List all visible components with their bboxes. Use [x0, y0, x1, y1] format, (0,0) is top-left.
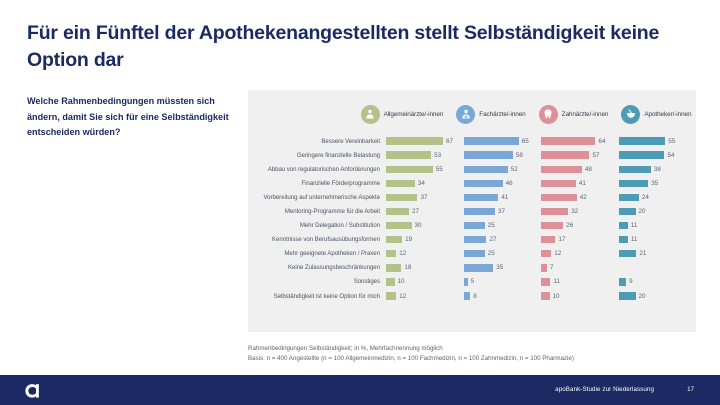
chart-bar-cell: 12	[386, 250, 464, 257]
chart-row: Mehr Delegation / Substitution30252611	[248, 219, 696, 233]
chart-bar-value: 11	[631, 236, 638, 243]
chart-bar	[386, 278, 395, 285]
chart-bar-cell: 11	[619, 222, 697, 229]
footer-bar: apoBank-Studie zur Niederlassung 17	[0, 375, 720, 405]
chart-bar-cell: 10	[386, 278, 464, 285]
chart-bar-cell: 8	[464, 292, 542, 299]
chart-bar-cell: 12	[541, 250, 619, 257]
chart-row-label: Bessere Vereinbarkeit	[248, 138, 386, 145]
legend-item-4[interactable]: Apotheker/-innen	[621, 105, 691, 124]
chart-bar-value: 48	[585, 166, 592, 173]
chart-bar-value: 64	[598, 138, 605, 145]
chart-bar-cell: 35	[619, 180, 697, 187]
chart-bar	[541, 264, 547, 271]
chart-bar-cell: 17	[541, 236, 619, 243]
chart-bar	[464, 278, 468, 285]
chart-bar-value: 55	[668, 138, 675, 145]
chart-legend: Allgemeinärzte/-innenFachärzte/-innenZah…	[248, 100, 696, 128]
chart-bar	[464, 137, 519, 144]
chart-bar-cell: 38	[619, 166, 697, 173]
chart-row: Abbau von regulatorischen Anforderungen5…	[248, 162, 696, 176]
slide: Für ein Fünftel der Apothekenangestellte…	[0, 0, 720, 405]
chart-row: Mentoring-Programme für die Arbeit273732…	[248, 204, 696, 218]
chart-bar-value: 17	[558, 236, 565, 243]
chart-row-cells: 19271711	[386, 236, 696, 243]
chart-bar-cell	[619, 264, 697, 271]
chart-bar-value: 21	[639, 250, 646, 257]
chart-bar-value: 41	[579, 180, 586, 187]
chart-bar-value: 53	[434, 152, 441, 159]
chart-bar-value: 7	[550, 264, 554, 271]
chart-bar-value: 34	[418, 180, 425, 187]
chart-row-cells: 12251221	[386, 250, 696, 257]
chart-bar-cell: 58	[464, 151, 542, 158]
chart-bar-value: 58	[516, 152, 523, 159]
apobank-a-logo	[23, 381, 42, 400]
chart-row: Keine Zulassungsbeschränkungen18357	[248, 261, 696, 275]
chart-bar	[386, 151, 431, 158]
chart-bar-cell: 10	[541, 292, 619, 299]
chart-row-cells: 67656455	[386, 137, 696, 144]
chart-bar-value: 18	[404, 264, 411, 271]
chart-row: Finanzielle Förderprogramme34464135	[248, 176, 696, 190]
chart-bar	[464, 292, 471, 299]
chart-bar	[541, 250, 551, 257]
chart-bar	[541, 180, 576, 187]
chart-bar-value: 65	[522, 138, 529, 145]
chart-bar	[619, 278, 627, 285]
chart-bar-value: 38	[654, 166, 661, 173]
chart-bar	[541, 278, 550, 285]
doctor-general-icon	[361, 105, 380, 124]
chart-row-cells: 37414224	[386, 194, 696, 201]
chart-bar	[464, 250, 485, 257]
chart-bar	[619, 137, 666, 144]
chart-bar-value: 12	[399, 250, 406, 257]
chart-bar-value: 12	[399, 293, 406, 300]
chart-bar-cell: 41	[541, 180, 619, 187]
chart-row-cells: 30252611	[386, 222, 696, 229]
chart-bar	[541, 222, 563, 229]
chart-bar	[464, 222, 485, 229]
chart-bar-value: 10	[398, 278, 405, 285]
chart-row: Selbständigkeit ist keine Option für mic…	[248, 289, 696, 303]
chart-bar-value: 57	[592, 152, 599, 159]
chart-bar-value: 35	[651, 180, 658, 187]
chart-bar-cell: 48	[541, 166, 619, 173]
chart-panel: Allgemeinärzte/-innenFachärzte/-innenZah…	[248, 90, 696, 332]
footer-study-label: apoBank-Studie zur Niederlassung	[555, 386, 654, 393]
chart-bar	[386, 264, 401, 271]
doctor-specialist-icon	[456, 105, 475, 124]
chart-bar	[619, 151, 665, 158]
chart-bar	[541, 208, 568, 215]
chart-bar-cell: 46	[464, 180, 542, 187]
chart-bar-cell: 5	[464, 278, 542, 285]
chart-bar-value: 12	[554, 250, 561, 257]
page-title: Für ein Fünftel der Apothekenangestellte…	[27, 20, 687, 74]
source-line-2: Basis: n = 400 Angestellte (n = 100 Allg…	[248, 354, 696, 364]
chart-bar	[464, 151, 513, 158]
chart-row-label: Mentoring-Programme für die Arbeit	[248, 208, 386, 215]
chart-bar-value: 19	[405, 236, 412, 243]
legend-item-label: Fachärzte/-innen	[479, 111, 525, 118]
chart-bar	[619, 180, 649, 187]
chart-bar-cell: 67	[386, 137, 464, 144]
chart-bar-cell: 37	[386, 194, 464, 201]
chart-bar	[386, 166, 433, 173]
chart-bar-cell: 35	[464, 264, 542, 271]
chart-bar	[386, 222, 412, 229]
chart-bar	[541, 166, 582, 173]
chart-bar-cell: 19	[386, 236, 464, 243]
chart-row-label: Mehr geeignete Apotheken / Praxen	[248, 250, 386, 257]
chart-bar	[386, 137, 443, 144]
chart-bar-value: 5	[471, 278, 475, 285]
chart-bar-value: 26	[566, 222, 573, 229]
chart-bar-value: 24	[642, 194, 649, 201]
chart-bar-value: 67	[446, 138, 453, 145]
chart-bar-cell: 25	[464, 250, 542, 257]
chart-bar	[619, 236, 628, 243]
chart-bar-value: 27	[412, 208, 419, 215]
chart-row-cells: 34464135	[386, 180, 696, 187]
chart-bar-value: 25	[488, 222, 495, 229]
chart-bar-cell: 9	[619, 278, 697, 285]
chart-bar-cell: 34	[386, 180, 464, 187]
legend-item-label: Apotheker/-innen	[644, 111, 691, 118]
chart-row-label: Sonstiges	[248, 278, 386, 285]
chart-bar	[619, 292, 636, 299]
legend-item-3[interactable]: Zahnärzte/-innen	[539, 105, 609, 124]
chart-bar-cell: 64	[541, 137, 619, 144]
chart-bar-cell: 52	[464, 166, 542, 173]
chart-bar	[541, 137, 595, 144]
chart-row-label: Mehr Delegation / Substitution	[248, 222, 386, 229]
chart-row: Geringere finanzielle Belastung53585754	[248, 148, 696, 162]
chart-row: Mehr geeignete Apotheken / Praxen1225122…	[248, 247, 696, 261]
chart-bar	[386, 180, 415, 187]
chart-bar	[386, 194, 417, 201]
chart-bar	[619, 222, 628, 229]
chart-bar	[464, 236, 487, 243]
chart-bar	[541, 236, 555, 243]
chart-bar-cell: 21	[619, 250, 697, 257]
chart-bar-value: 30	[415, 222, 422, 229]
chart-row: Kenntnisse von Berufsausübungsformen1927…	[248, 233, 696, 247]
chart-bar-value: 46	[506, 180, 513, 187]
chart-bar-cell: 32	[541, 208, 619, 215]
chart-bar	[464, 208, 495, 215]
chart-bar-value: 25	[488, 250, 495, 257]
chart-bar-value: 54	[667, 152, 674, 159]
chart-bar-value: 20	[639, 293, 646, 300]
chart-bar-value: 11	[631, 222, 638, 229]
chart-bar-value: 32	[571, 208, 578, 215]
chart-bar-cell: 12	[386, 292, 464, 299]
chart-row-label: Abbau von regulatorischen Anforderungen	[248, 166, 386, 173]
chart-bar	[464, 194, 499, 201]
chart-bar-cell: 55	[386, 166, 464, 173]
chart-bar	[386, 250, 396, 257]
chart-bar-cell: 55	[619, 137, 697, 144]
chart-bar-value: 37	[498, 208, 505, 215]
chart-row-label: Vorbereitung auf unternehmerische Aspekt…	[248, 194, 386, 201]
chart-bar-cell: 53	[386, 151, 464, 158]
chart-bar-value: 37	[420, 194, 427, 201]
chart-bar	[386, 208, 409, 215]
chart-bar-value: 9	[629, 278, 633, 285]
chart-bar-cell: 20	[619, 208, 697, 215]
chart-bar-cell: 11	[541, 278, 619, 285]
chart-bar	[619, 208, 636, 215]
chart-bar-value: 11	[553, 278, 560, 285]
chart-bar	[386, 236, 402, 243]
chart-row-cells: 27373220	[386, 208, 696, 215]
chart-bar-cell: 65	[464, 137, 542, 144]
chart-bar	[464, 264, 494, 271]
chart-bar	[541, 194, 577, 201]
chart-bar-value: 55	[436, 166, 443, 173]
chart-row-label: Kenntnisse von Berufsausübungsformen	[248, 236, 386, 243]
chart-bar-cell: 25	[464, 222, 542, 229]
chart-bar	[464, 180, 503, 187]
chart-bar-cell: 26	[541, 222, 619, 229]
chart-bar-cell: 54	[619, 151, 697, 158]
source-line-1: Rahmenbedingungen Selbständigkeit; in %,…	[248, 344, 696, 354]
chart-bar-cell: 24	[619, 194, 697, 201]
chart-bar-cell: 41	[464, 194, 542, 201]
chart-bar-value: 41	[501, 194, 508, 201]
chart-bar	[541, 292, 550, 299]
chart-bar-value: 27	[489, 236, 496, 243]
chart-bar-cell: 11	[619, 236, 697, 243]
chart-bar	[619, 194, 639, 201]
chart-bar-cell: 30	[386, 222, 464, 229]
chart-row-label: Finanzielle Förderprogramme	[248, 180, 386, 187]
chart-bar-cell: 27	[386, 208, 464, 215]
chart-row-cells: 1281020	[386, 292, 696, 299]
chart-bar	[464, 166, 508, 173]
chart-row-label: Geringere finanzielle Belastung	[248, 152, 386, 159]
mortar-pestle-icon	[621, 105, 640, 124]
chart-row-cells: 55524838	[386, 166, 696, 173]
chart-bar-cell: 18	[386, 264, 464, 271]
chart-row: Vorbereitung auf unternehmerische Aspekt…	[248, 190, 696, 204]
chart-bar-cell: 27	[464, 236, 542, 243]
chart-bar-cell: 20	[619, 292, 697, 299]
chart-bar-value: 35	[496, 264, 503, 271]
source-note: Rahmenbedingungen Selbständigkeit; in %,…	[248, 344, 696, 363]
chart-bar-value: 10	[553, 293, 560, 300]
chart-bar-value: 42	[580, 194, 587, 201]
chart-bar	[619, 250, 637, 257]
chart-row-cells: 53585754	[386, 151, 696, 158]
chart-bar-cell: 7	[541, 264, 619, 271]
chart-bar-value: 52	[511, 166, 518, 173]
chart-bar-cell: 57	[541, 151, 619, 158]
chart-bar	[619, 166, 651, 173]
chart-row-cells: 18357	[386, 264, 696, 271]
chart-bar-value: 8	[473, 293, 477, 300]
chart-bar-value: 20	[639, 208, 646, 215]
chart-rows: Bessere Vereinbarkeit67656455Geringere f…	[248, 134, 696, 303]
chart-row-label: Selbständigkeit ist keine Option für mic…	[248, 293, 386, 300]
legend-item-2[interactable]: Fachärzte/-innen	[456, 105, 525, 124]
chart-row-cells: 105119	[386, 278, 696, 285]
legend-item-1[interactable]: Allgemeinärzte/-innen	[361, 105, 444, 124]
chart-bar	[386, 292, 396, 299]
chart-row: Bessere Vereinbarkeit67656455	[248, 134, 696, 148]
chart-row-label: Keine Zulassungsbeschränkungen	[248, 264, 386, 271]
chart-row: Sonstiges105119	[248, 275, 696, 289]
question-text: Welche Rahmenbedingungen müssten sich än…	[27, 94, 232, 141]
chart-bar-cell: 42	[541, 194, 619, 201]
legend-item-label: Zahnärzte/-innen	[562, 111, 609, 118]
legend-item-label: Allgemeinärzte/-innen	[384, 111, 444, 118]
footer-page-number: 17	[687, 386, 694, 393]
chart-bar	[541, 151, 589, 158]
tooth-icon	[539, 105, 558, 124]
chart-bar-cell: 37	[464, 208, 542, 215]
